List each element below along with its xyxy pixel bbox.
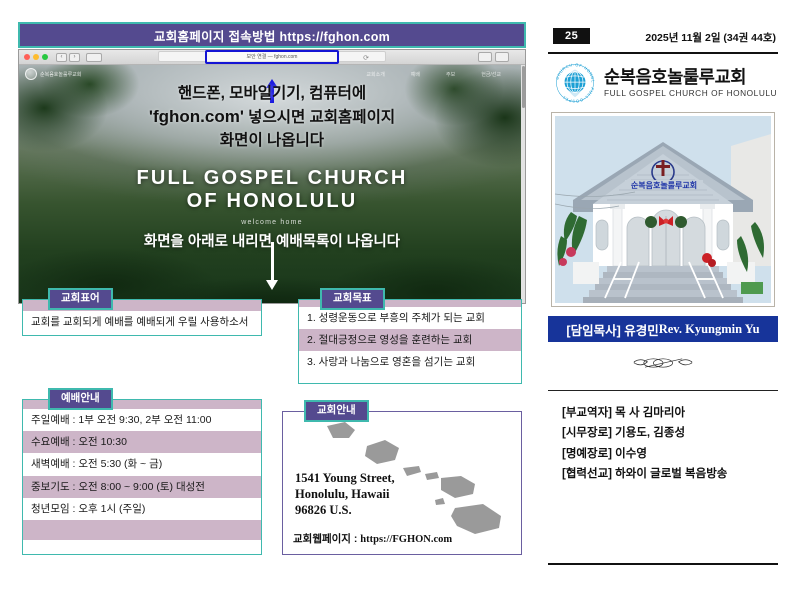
worship-row: 중보기도 : 오전 8:00 ~ 9:00 (토) 대성전	[23, 476, 261, 498]
church-photo-frame: 순복음호놀룰루교회	[551, 112, 775, 307]
bulletin-header: 25 2025년 11월 2일 (34권 44호)	[548, 28, 778, 48]
worship-row: 주일예배 : 1부 오전 9:30, 2부 오전 11:00	[23, 409, 261, 431]
website-hero-image: 순복음호놀룰루교회 교회소개 예배 주보 헌금/선교 핸드폰, 모바일기기, 컴…	[19, 65, 525, 304]
minimize-icon[interactable]	[33, 54, 39, 60]
panel-worship-body: 주일예배 : 1부 오전 9:30, 2부 오전 11:00 수요예배 : 오전…	[22, 399, 262, 555]
instruction-text-block: 핸드폰, 모바일기기, 컴퓨터에 'fghon.com' 넣으시면 교회홈페이지…	[19, 65, 525, 153]
tabs-icon[interactable]	[495, 52, 509, 62]
instruction-line-2: 'fghon.com' 넣으시면 교회홈페이지	[19, 105, 525, 130]
church-address: 1541 Young Street, Honolulu, Hawaii 9682…	[295, 470, 395, 518]
panel-worship-schedule: 예배안내 주일예배 : 1부 오전 9:30, 2부 오전 11:00 수요예배…	[22, 388, 262, 555]
howto-title-bar: 교회홈페이지 접속방법 https://fghon.com	[18, 22, 526, 48]
flourish-svg	[627, 354, 699, 372]
domain-text: 'fghon.com'	[149, 107, 244, 126]
slogan-row: 교회를 교회되게 예배를 예배되게 우릴 사용하소서	[23, 311, 261, 333]
address-line-3: 96826 U.S.	[295, 502, 395, 518]
bulletin-page: 교회홈페이지 접속방법 https://fghon.com ‹ ›	[0, 0, 792, 612]
panel-church-goals: 교회목표 1. 성령운동으로 부흥의 주체가 되는 교회 2. 절대긍정으로 영…	[298, 288, 522, 384]
site-hero-title: FULL GOSPEL CHURCH OF HONOLULU	[19, 167, 525, 214]
church-building-photo: 순복음호놀룰루교회	[555, 116, 771, 303]
instruction-line-3: 화면이 나옵니다	[19, 130, 525, 152]
staff-divider-top	[548, 390, 778, 391]
webpage-label: 교회웹페이지 :	[293, 533, 360, 545]
forward-arrow-icon[interactable]: ›	[69, 53, 80, 62]
church-brand-text: 순복음호놀룰루교회 FULL GOSPEL CHURCH OF HONOLULU	[604, 68, 777, 98]
pastor-label-en: Rev. Kyungmin Yu	[659, 322, 760, 337]
back-arrow-icon[interactable]: ‹	[56, 53, 67, 62]
page-number-badge: 25	[553, 28, 590, 44]
church-brand: CHURCH·OF·HONOLULU FULL·GOSPEL	[548, 54, 778, 110]
panel-church-slogan: 교회표어 교회를 교회되게 예배를 예배되게 우릴 사용하소서	[22, 288, 262, 336]
address-line-1: 1541 Young Street,	[295, 470, 395, 486]
page-scrollbar[interactable]	[521, 65, 525, 303]
worship-row: 새벽예배 : 오전 5:30 (화 ~ 금)	[23, 453, 261, 475]
panel-church-info: 교회안내 1541 Young Street, Honolulu,	[282, 400, 522, 555]
panel-info-body: 1541 Young Street, Honolulu, Hawaii 9682…	[282, 411, 522, 555]
issue-date: 2025년 11월 2일 (34권 44호)	[645, 30, 776, 45]
share-icon[interactable]	[478, 52, 492, 62]
instruction-line-1: 핸드폰, 모바일기기, 컴퓨터에	[19, 83, 525, 105]
browser-screenshot: ‹ › 보안 연결 — fghon.com ⟳	[18, 49, 526, 304]
bottom-rule	[548, 563, 778, 565]
pastor-label-kr: [담임목사] 유경민	[566, 320, 658, 339]
sidebar-toggle-icon[interactable]	[86, 53, 102, 62]
staff-line: [부교역자] 목 사 김마리아	[562, 403, 778, 423]
url-text: 보안 연결 — fghon.com	[247, 53, 298, 60]
church-globe-logo: CHURCH·OF·HONOLULU FULL·GOSPEL	[554, 62, 596, 104]
instruction-line-2-rest: 넣으시면 교회홈페이지	[244, 109, 395, 126]
worship-row: 수요예배 : 오전 10:30	[23, 431, 261, 453]
reload-icon[interactable]: ⟳	[363, 54, 369, 62]
left-column: 교회홈페이지 접속방법 https://fghon.com ‹ ›	[18, 22, 526, 567]
scrollbar-thumb[interactable]	[522, 66, 525, 108]
pastor-banner: [담임목사] 유경민 Rev. Kyungmin Yu	[548, 316, 778, 342]
browser-chrome: ‹ › 보안 연결 — fghon.com ⟳	[19, 50, 525, 65]
browser-right-buttons[interactable]	[478, 52, 509, 62]
panel-goals-tab: 교회목표	[320, 288, 385, 310]
close-icon[interactable]	[24, 54, 30, 60]
svg-text:순복음호놀룰루교회: 순복음호놀룰루교회	[631, 180, 697, 190]
goal-row: 2. 절대긍정으로 영성을 훈련하는 교회	[299, 329, 521, 351]
worship-row: 청년모임 : 오후 1시 (주일)	[23, 498, 261, 520]
goal-row: 3. 사랑과 나눔으로 영혼을 섬기는 교회	[299, 351, 521, 373]
ornament-flourish-icon	[548, 354, 778, 376]
site-hero-welcome: welcome home	[19, 219, 525, 226]
church-webpage[interactable]: 교회웹페이지 : https://FGHON.com	[293, 531, 452, 546]
howto-title-text: 교회홈페이지 접속방법 https://fghon.com	[154, 26, 390, 45]
panel-info-tab: 교회안내	[304, 400, 369, 422]
panel-worship-footer	[23, 520, 261, 540]
church-name-kr: 순복음호놀룰루교회	[604, 68, 777, 87]
site-hero-title-line1: FULL GOSPEL CHURCH	[19, 167, 525, 191]
panel-worship-tab: 예배안내	[48, 388, 113, 410]
window-traffic-lights[interactable]	[24, 54, 48, 60]
goal-row: 1. 성령운동으로 부흥의 주체가 되는 교회	[299, 307, 521, 329]
address-line-2: Honolulu, Hawaii	[295, 486, 395, 502]
right-column: 25 2025년 11월 2일 (34권 44호) CHURCH·OF·HONO…	[548, 28, 778, 573]
panel-goals-body: 1. 성령운동으로 부흥의 주체가 되는 교회 2. 절대긍정으로 영성을 훈련…	[298, 299, 522, 384]
maximize-icon[interactable]	[42, 54, 48, 60]
staff-line: [명예장로] 이수영	[562, 444, 778, 464]
staff-list: [부교역자] 목 사 김마리아 [시무장로] 기용도, 김종성 [명예장로] 이…	[548, 403, 778, 485]
webpage-url[interactable]: https://FGHON.com	[360, 534, 452, 545]
site-hero-title-line2: OF HONOLULU	[19, 190, 525, 214]
browser-nav-buttons[interactable]: ‹ ›	[56, 53, 80, 62]
staff-line: [시무장로] 기용도, 김종성	[562, 423, 778, 443]
panel-slogan-tab: 교회표어	[48, 288, 113, 310]
church-name-en: FULL GOSPEL CHURCH OF HONOLULU	[604, 88, 777, 98]
staff-line: [협력선교] 하와이 글로벌 복음방송	[562, 464, 778, 484]
